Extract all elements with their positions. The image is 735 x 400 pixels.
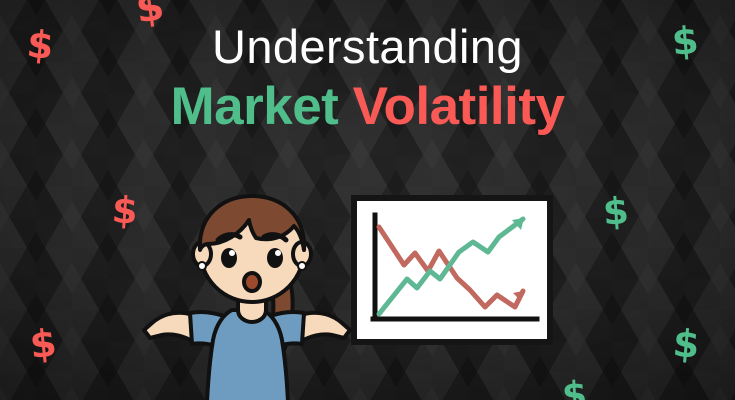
whiteboard-surface — [357, 201, 547, 339]
mouth — [244, 273, 260, 291]
earring-left — [198, 262, 206, 270]
title-space — [338, 77, 352, 136]
page-title: Understanding Market Volatility — [0, 22, 735, 136]
dollar-sign-decoration: $ — [602, 192, 630, 231]
eye-right — [267, 248, 283, 268]
title-line-understanding: Understanding — [0, 22, 735, 73]
volatility-line-chart — [357, 201, 547, 339]
dollar-sign-decoration: $ — [561, 377, 588, 400]
eye-highlight-left — [229, 250, 235, 256]
title-word-market: Market — [170, 77, 338, 136]
title-line-market-volatility: Market Volatility — [0, 77, 735, 136]
dollar-sign-decoration: $ — [671, 324, 701, 364]
eye-left — [221, 248, 237, 268]
eye-highlight-right — [275, 250, 281, 256]
earring-right — [298, 262, 306, 270]
dollar-sign-decoration: $ — [28, 324, 58, 365]
infographic-canvas: $$$$$$$$ Understanding Market Volatility — [0, 0, 735, 400]
confused-woman-illustration — [128, 192, 378, 400]
hand-right — [300, 313, 350, 342]
hand-left — [144, 313, 194, 342]
title-word-volatility: Volatility — [353, 77, 565, 136]
presentation-whiteboard — [351, 195, 553, 345]
shirt-torso — [207, 310, 288, 400]
